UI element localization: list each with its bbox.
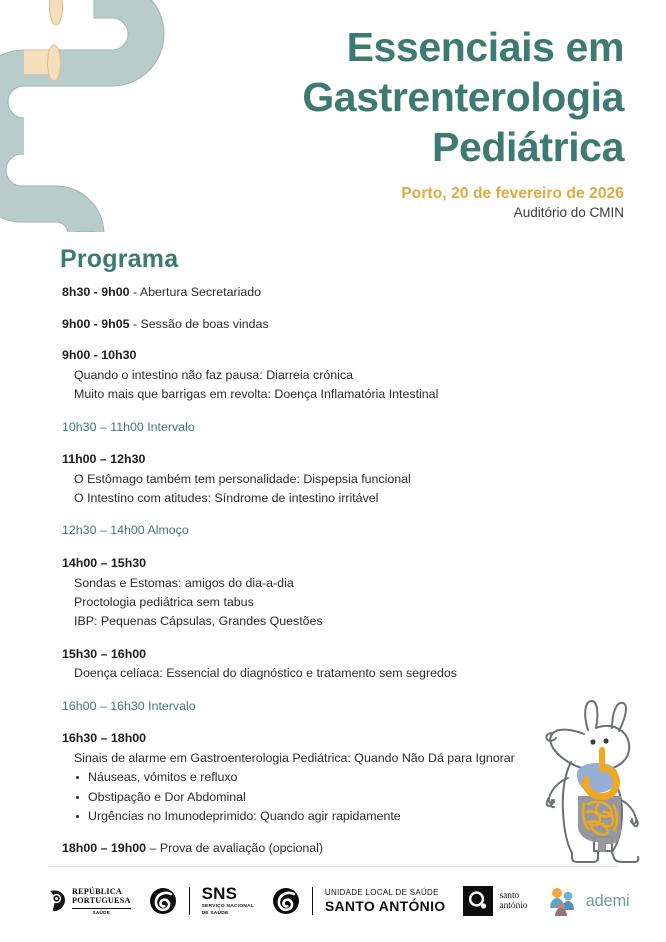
slot-inline-description: - Sessão de boas vindas	[130, 317, 269, 331]
slot-topic: Sondas e Estomas: amigos do dia-a-dia	[62, 574, 582, 593]
logo-republica-portuguesa: REPÚBLICA PORTUGUESA SAÚDE	[48, 887, 131, 916]
santo-antonio-line-1: santo	[499, 891, 527, 901]
title-line-1: Essenciais em	[204, 22, 624, 72]
slot-topic: Sinais de alarme em Gastroenterologia Pe…	[62, 749, 582, 768]
slot-topic: O Intestino com atitudes: Síndrome de in…	[62, 489, 582, 508]
slot-time-range: 9h00 - 9h05	[62, 317, 130, 331]
sns-subtitle: SERVIÇO NACIONAL DE SAÚDE	[202, 904, 254, 917]
republica-line-2: PORTUGUESA	[72, 896, 131, 906]
logo-sns: SNS SERVIÇO NACIONAL DE SAÚDE	[149, 885, 254, 917]
slot-topic: Doença celíaca: Essencial do diagnóstico…	[62, 664, 582, 683]
slot-topic: Urgências no Imunodeprimido: Quando agir…	[62, 807, 582, 826]
slot-inline-description: – Prova de avaliação (opcional)	[146, 841, 323, 855]
uls-swirl-icon	[272, 887, 300, 915]
slot-time-range: 9h00 - 10h30	[62, 348, 136, 362]
sns-divider	[189, 887, 190, 915]
santo-antonio-mark	[463, 886, 493, 916]
event-poster: Essenciais em Gastrenterologia Pediátric…	[0, 0, 666, 942]
page-title: Programa	[60, 245, 178, 274]
slot-time: 16h30 – 18h00	[62, 729, 582, 748]
slot-time-range: 16h30 – 18h00	[62, 731, 146, 745]
schedule-slot: 9h00 - 9h05 - Sessão de boas vindas	[62, 315, 582, 334]
santo-antonio-circle-icon	[467, 890, 489, 912]
logo-ademi: ademi	[546, 886, 630, 916]
schedule-slot: 9h00 - 10h30Quando o intestino não faz p…	[62, 346, 582, 404]
event-venue: Auditório do CMIN	[204, 205, 624, 220]
republica-rule	[72, 908, 131, 909]
schedule-list: 8h30 - 9h00 - Abertura Secretariado9h00 …	[62, 283, 582, 871]
slot-time: 15h30 – 16h00	[62, 645, 582, 664]
slot-time: 9h00 - 9h05 - Sessão de boas vindas	[62, 315, 582, 334]
slot-topics: Sinais de alarme em Gastroenterologia Pe…	[62, 749, 582, 826]
schedule-slot: 14h00 – 15h30Sondas e Estomas: amigos do…	[62, 554, 582, 632]
break-label: 16h00 – 16h30 Intervalo	[62, 697, 582, 716]
slot-topic: Náuseas, vómitos e refluxo	[62, 768, 582, 787]
slot-time-range: 8h30 - 9h00	[62, 285, 130, 299]
slot-topic: Proctologia pediátrica sem tabus	[62, 593, 582, 612]
slot-time: 18h00 – 19h00 – Prova de avaliação (opci…	[62, 839, 582, 858]
republica-sub: SAÚDE	[72, 911, 131, 916]
slot-time: 8h30 - 9h00 - Abertura Secretariado	[62, 283, 582, 302]
poster-header: Essenciais em Gastrenterologia Pediátric…	[204, 22, 624, 220]
uls-divider	[312, 887, 313, 915]
schedule-slot: 11h00 – 12h30O Estômago também tem perso…	[62, 450, 582, 508]
slot-topic: IBP: Pequenas Cápsulas, Grandes Questões	[62, 612, 582, 631]
slot-topics: O Estômago também tem personalidade: Dis…	[62, 470, 582, 509]
santo-antonio-line-2: antónio	[499, 901, 527, 911]
slot-topic: Quando o intestino não faz pausa: Diarre…	[62, 366, 582, 385]
footer-logos: REPÚBLICA PORTUGUESA SAÚDE SNS SERVIÇO N…	[48, 876, 636, 926]
schedule-break: 16h00 – 16h30 Intervalo	[62, 697, 582, 716]
title-line-2: Gastrenterologia	[204, 72, 624, 122]
republica-line-1: REPÚBLICA	[72, 887, 131, 897]
slot-time: 9h00 - 10h30	[62, 346, 582, 365]
slot-time-range: 14h00 – 15h30	[62, 556, 146, 570]
sns-title: SNS	[202, 885, 254, 902]
schedule-slot: 18h00 – 19h00 – Prova de avaliação (opci…	[62, 839, 582, 858]
schedule-slot: 8h30 - 9h00 - Abertura Secretariado	[62, 283, 582, 302]
uls-main-label: SANTO ANTÓNIO	[325, 899, 446, 913]
slot-inline-description: - Abertura Secretariado	[130, 285, 262, 299]
schedule-slot: 15h30 – 16h00Doença celíaca: Essencial d…	[62, 645, 582, 684]
ademi-wordmark: ademi	[586, 893, 630, 910]
republica-shield-icon	[48, 889, 67, 913]
slot-topics: Quando o intestino não faz pausa: Diarre…	[62, 366, 582, 405]
ademi-people-icon	[546, 886, 580, 916]
logo-uls-santo-antonio: UNIDADE LOCAL DE SAÚDE SANTO ANTÓNIO	[272, 887, 446, 915]
uls-top-label: UNIDADE LOCAL DE SAÚDE	[325, 889, 446, 898]
title-line-3: Pediátrica	[204, 122, 624, 172]
sns-swirl-icon	[149, 887, 177, 915]
slot-time: 14h00 – 15h30	[62, 554, 582, 573]
logo-santo-antonio: santo antónio	[463, 886, 527, 916]
slot-topics: Doença celíaca: Essencial do diagnóstico…	[62, 664, 582, 683]
slot-time-range: 15h30 – 16h00	[62, 647, 146, 661]
slot-topics: Sondas e Estomas: amigos do dia-a-diaPro…	[62, 574, 582, 632]
intestine-illustration	[0, 0, 204, 232]
event-date: Porto, 20 de fevereiro de 2026	[204, 185, 624, 203]
break-label: 12h30 – 14h00 Almoço	[62, 521, 582, 540]
slot-topic: Muito mais que barrigas em revolta: Doen…	[62, 385, 582, 404]
schedule-break: 10h30 – 11h00 Intervalo	[62, 418, 582, 437]
slot-topic: O Estômago também tem personalidade: Dis…	[62, 470, 582, 489]
footer-divider	[48, 866, 618, 867]
slot-time-range: 18h00 – 19h00	[62, 841, 146, 855]
schedule-slot: 16h30 – 18h00Sinais de alarme em Gastroe…	[62, 729, 582, 826]
slot-topic: Obstipação e Dor Abdominal	[62, 788, 582, 807]
break-label: 10h30 – 11h00 Intervalo	[62, 418, 582, 437]
schedule-break: 12h30 – 14h00 Almoço	[62, 521, 582, 540]
slot-time: 11h00 – 12h30	[62, 450, 582, 469]
slot-time-range: 11h00 – 12h30	[62, 452, 145, 466]
